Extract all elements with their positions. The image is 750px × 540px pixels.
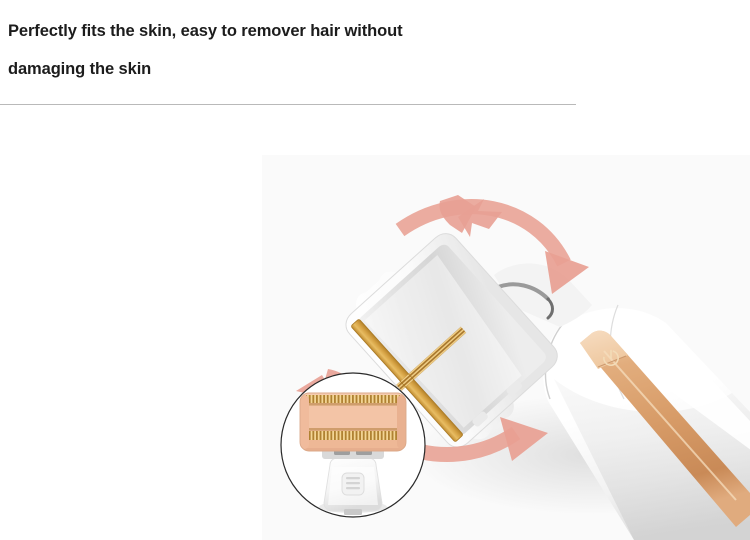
cartridge-lower-lip (306, 440, 400, 448)
ribbed-button-line-1 (346, 477, 360, 479)
cartridge-teeth-top (306, 395, 400, 403)
cartridge-center-band (306, 406, 400, 428)
ribbed-button-icon[interactable] (342, 473, 364, 495)
product-illustration (262, 155, 750, 540)
detail-inset-circle (281, 373, 425, 517)
cartridge-teeth-bottom (306, 431, 400, 440)
cartridge-teeth-top-rail (306, 403, 400, 406)
inset-body-notch (344, 509, 362, 515)
page-title-line-2: damaging the skin (8, 50, 588, 88)
product-feature-page: Perfectly fits the skin, easy to remover… (0, 0, 750, 540)
inset-blade-cartridge (300, 393, 406, 451)
cartridge-teeth-bottom-rail (306, 428, 400, 431)
page-title-line-1: Perfectly fits the skin, easy to remover… (8, 12, 588, 50)
ribbed-button-line-2 (346, 482, 360, 484)
product-image-panel (262, 155, 750, 540)
cartridge-cap-right (397, 395, 406, 449)
page-title: Perfectly fits the skin, easy to remover… (8, 12, 588, 88)
cartridge-cap-left (300, 395, 309, 449)
section-divider (0, 104, 576, 105)
ribbed-button-line-3 (346, 487, 360, 489)
